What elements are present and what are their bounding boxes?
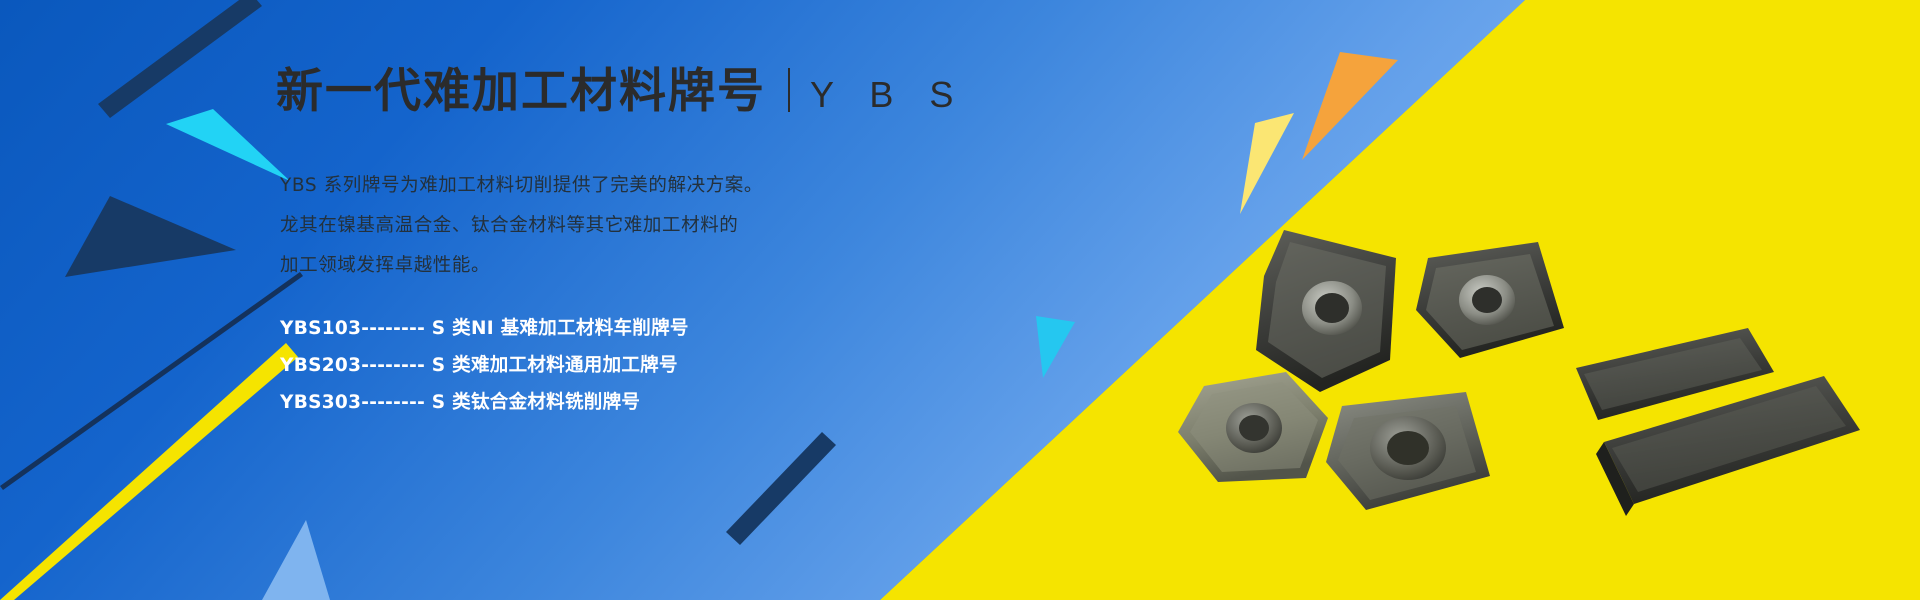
title-chinese: 新一代难加工材料牌号 [276,68,766,115]
sku-item-ybs103: YBS103-------- S 类NI 基难加工材料车削牌号 [280,310,689,347]
carbide-insert-milling-square [1326,392,1490,510]
title-english: Y B S [810,77,966,115]
title-divider [788,68,790,112]
carbide-insert-wnmg-trigon [1256,230,1396,392]
banner-content: 新一代难加工材料牌号 Y B S YBS 系列牌号为难加工材料切削提供了完美的解… [276,0,1096,600]
product-photo-cluster [1160,180,1920,600]
sku-item-ybs203: YBS203-------- S 类难加工材料通用加工牌号 [280,347,689,384]
banner-description: YBS 系列牌号为难加工材料切削提供了完美的解决方案。 龙其在镍基高温合金、钛合… [280,166,1040,286]
carbide-insert-cnmg-square [1416,242,1564,358]
carbide-insert-pentagon [1178,372,1328,482]
description-line-3: 加工领域发挥卓越性能。 [280,246,1040,286]
sku-list: YBS103-------- S 类NI 基难加工材料车削牌号 YBS203--… [280,310,689,421]
sku-item-ybs303: YBS303-------- S 类钛合金材料铣削牌号 [280,384,689,421]
promo-banner: 新一代难加工材料牌号 Y B S YBS 系列牌号为难加工材料切削提供了完美的解… [0,0,1920,600]
description-line-2: 龙其在镍基高温合金、钛合金材料等其它难加工材料的 [280,206,1040,246]
description-line-1: YBS 系列牌号为难加工材料切削提供了完美的解决方案。 [280,166,1040,206]
banner-title: 新一代难加工材料牌号 Y B S [276,68,966,115]
